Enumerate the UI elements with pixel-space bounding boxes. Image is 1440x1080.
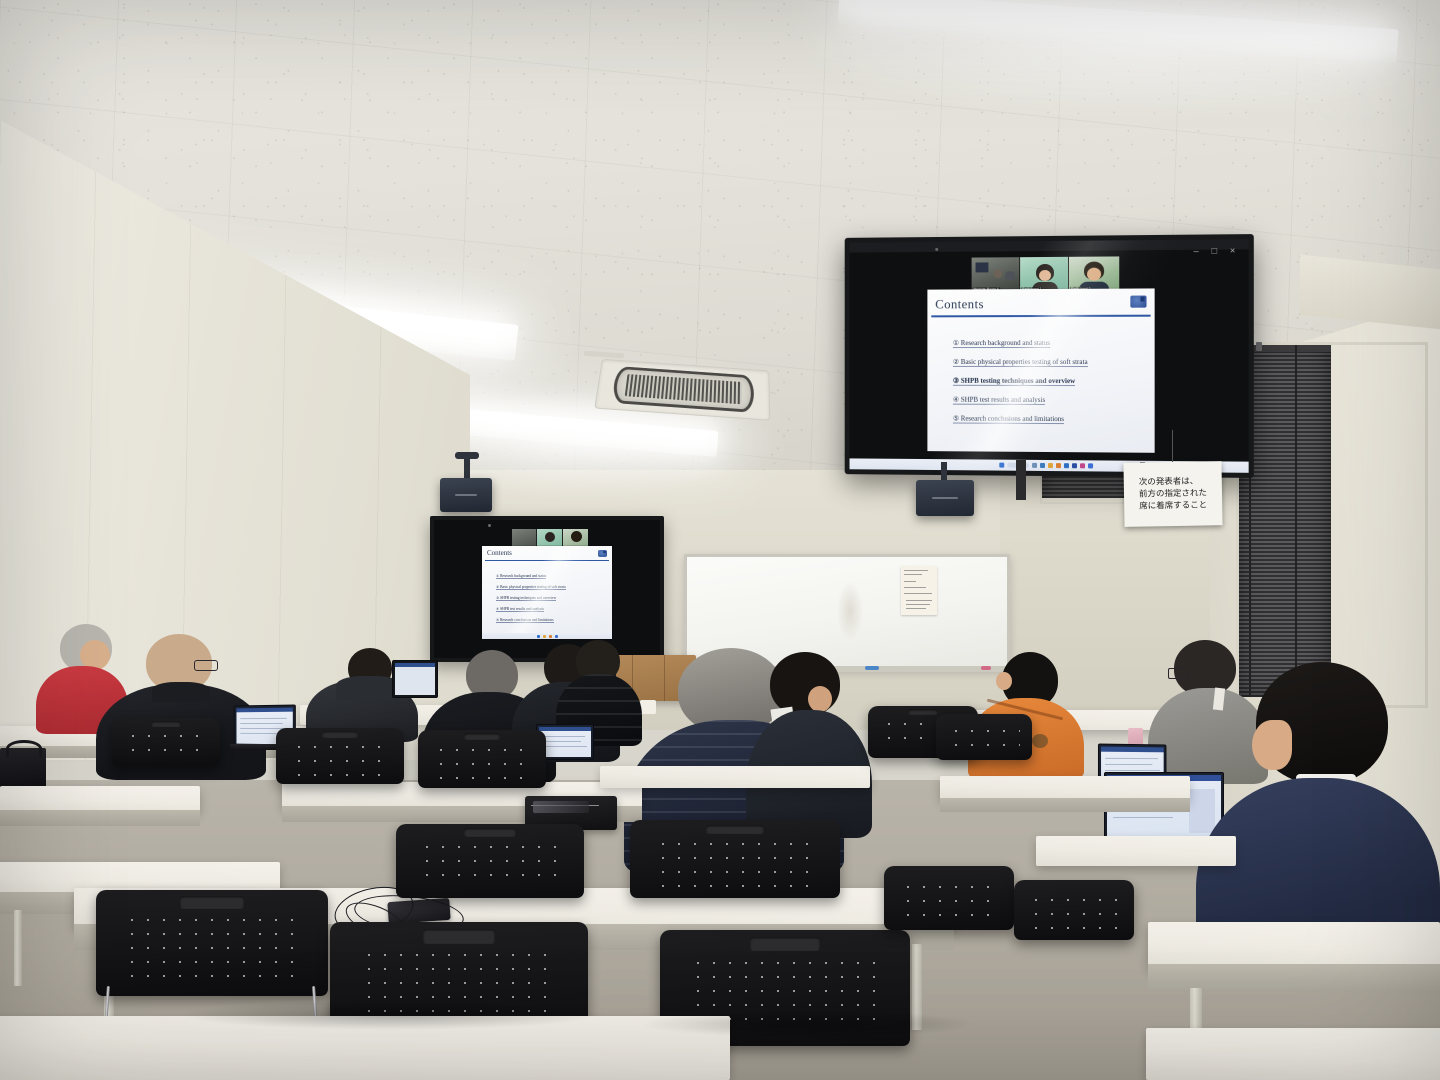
desk-row2-right — [940, 776, 1190, 800]
sign-line: 次の発表者は、 — [1139, 475, 1207, 488]
monitor-bezel — [850, 239, 1249, 252]
sign-wire — [1172, 430, 1173, 464]
start-icon[interactable] — [537, 635, 540, 638]
chair-row2-d[interactable] — [936, 714, 1032, 760]
slide-title: Contents — [935, 296, 984, 312]
chair-handle — [750, 937, 820, 951]
speaker-arm — [941, 462, 947, 482]
chair-row2-a[interactable] — [276, 728, 404, 784]
desk-foreground-bottom-right — [1146, 1028, 1440, 1080]
laptop-text-line — [1105, 764, 1152, 765]
chair-perforations — [900, 880, 999, 921]
chair-front-e[interactable] — [630, 820, 840, 898]
desk-row2-left — [0, 786, 200, 812]
chair-perforations — [655, 837, 815, 887]
slide-bullet: ⑤ Research conclusions and limitations — [496, 618, 554, 623]
laptop-app-header — [539, 727, 591, 731]
laptop-text-line — [1105, 758, 1158, 759]
video-conference-strip-2[interactable] — [512, 529, 588, 546]
video-tile[interactable] — [537, 529, 561, 546]
chair-handle — [423, 929, 495, 943]
chair-handle — [464, 828, 517, 837]
monitor-indicator — [488, 524, 491, 527]
laptop-text-line — [1113, 817, 1173, 818]
window-controls[interactable]: – □ × — [1194, 245, 1241, 256]
chair-row2-b[interactable] — [418, 730, 546, 788]
chair-front-g[interactable] — [1014, 880, 1134, 940]
store-icon[interactable] — [1064, 463, 1069, 468]
video-tile[interactable] — [512, 529, 536, 546]
tote-bag-handle — [6, 740, 42, 757]
edge-icon[interactable] — [1056, 463, 1061, 468]
sign-line: 前方の指定された — [1139, 487, 1207, 500]
speaker-badge — [455, 494, 478, 497]
slide-title: Contents — [487, 549, 512, 557]
paper-text-line — [906, 608, 926, 609]
explorer-icon[interactable] — [1048, 463, 1053, 468]
slide-bullet: ④ SHPB test results and analysis — [953, 396, 1045, 405]
screen-glare — [927, 288, 1154, 452]
main-wall-monitor[interactable]: – □ × Remote Room A Participant 1 Partic… — [845, 234, 1254, 478]
japanese-notice-sign: 次の発表者は、 前方の指定された 席に着席すること — [1123, 461, 1222, 527]
face-profile — [808, 686, 832, 712]
start-icon[interactable] — [999, 463, 1004, 468]
slide-bullet: ② Basic physical properties testing of s… — [953, 358, 1088, 367]
face-profile — [996, 672, 1012, 690]
chair-handle — [464, 733, 500, 740]
desk-row2-center2 — [600, 766, 870, 788]
presentation-slide: Contents ① Research background and statu… — [927, 288, 1154, 452]
attendee-navy-suit-front — [1196, 662, 1440, 962]
slide-bullet: ④ SHPB test results and analysis — [496, 607, 544, 612]
glasses-icon — [1168, 668, 1188, 679]
laptop-text-line — [240, 723, 283, 724]
paper-text-line — [906, 604, 930, 605]
paper-text-line — [904, 581, 916, 582]
desk-front-panel — [940, 798, 1190, 812]
desk-row3-right — [1036, 836, 1236, 866]
blinds-bracket — [1256, 342, 1262, 351]
presentation-slide-2: Contents ① Research background and statu… — [482, 546, 612, 639]
chair-perforations — [291, 740, 388, 776]
slide-divider — [931, 315, 1150, 317]
chair-perforations — [948, 724, 1021, 753]
floor-shadow — [180, 1000, 600, 1030]
floor-shadow — [640, 1010, 980, 1038]
bag-pocket — [533, 801, 589, 813]
blinds-cord[interactable] — [1295, 345, 1297, 697]
explorer-icon[interactable] — [543, 635, 546, 638]
monitor-indicator — [935, 248, 938, 251]
teams-icon[interactable] — [1088, 463, 1093, 468]
speaker-arm — [464, 458, 470, 480]
chair-handle — [908, 709, 939, 715]
collar — [152, 682, 210, 702]
video-tile[interactable]: Participant 2 — [1069, 256, 1119, 290]
paper-text-line — [906, 600, 932, 601]
institution-logo-icon — [1130, 296, 1146, 308]
chair-front-d[interactable] — [396, 824, 584, 898]
wall-speaker-left — [440, 478, 492, 512]
sign-text: 次の発表者は、 前方の指定された 席に着席すること — [1139, 475, 1208, 513]
whiteboard-posted-paper — [901, 566, 937, 615]
slide-bullet: ③ SHPB testing techniques and overview — [953, 377, 1075, 386]
laptop-app-header — [1101, 747, 1164, 753]
office-icon[interactable] — [1072, 463, 1077, 468]
windows-taskbar-2[interactable] — [482, 633, 612, 639]
desk-front-panel — [0, 810, 200, 826]
sign-line: 席に着席すること — [1139, 500, 1207, 513]
wall-speaker-right — [916, 480, 974, 516]
laptop-text-line — [543, 746, 587, 747]
lecture-room-photo: – □ × Remote Room A Participant 1 Partic… — [0, 0, 1440, 1080]
laptop-app-header — [237, 708, 293, 713]
chair-front-f[interactable] — [884, 866, 1014, 930]
laptop-ui — [539, 727, 591, 757]
laptop-text-line — [543, 736, 585, 737]
widgets-icon[interactable] — [1032, 463, 1037, 468]
chair-perforations — [419, 840, 562, 887]
speaker-badge — [932, 497, 958, 500]
slide-bullet: ③ SHPB testing techniques and overview — [496, 596, 556, 601]
chair-perforations — [433, 743, 530, 780]
mail-icon[interactable] — [1080, 463, 1085, 468]
chair-front-a[interactable] — [96, 890, 328, 996]
bag-knot — [1032, 734, 1048, 748]
monitor-mount-arm — [1016, 460, 1026, 500]
laptop-text-line — [240, 733, 277, 734]
chair-handle — [322, 731, 358, 738]
video-tile[interactable]: Participant 1 — [1020, 257, 1068, 291]
slide-bullet: ⑤ Research conclusions and limitations — [953, 415, 1064, 425]
video-conference-strip[interactable]: Remote Room A Participant 1 Participant … — [972, 256, 1120, 291]
chair-perforations — [1028, 893, 1119, 931]
desk-leg — [14, 910, 22, 986]
ear-neck — [1252, 720, 1292, 770]
teams-icon[interactable] — [555, 635, 558, 638]
slide-bullet: ② Basic physical properties testing of s… — [496, 585, 566, 590]
whiteboard-smudge — [837, 581, 863, 641]
video-tile[interactable] — [563, 529, 588, 546]
chair-handle — [151, 721, 181, 727]
institution-logo-icon — [598, 550, 607, 557]
glasses-icon — [194, 660, 218, 671]
attendee-dark-suit-mid — [746, 652, 872, 828]
edge-icon[interactable] — [549, 635, 552, 638]
paper-text-line — [904, 570, 928, 571]
laptop-text-line — [240, 718, 287, 719]
chair-perforations — [124, 913, 300, 981]
paper-text-line — [904, 593, 932, 594]
video-tile[interactable]: Remote Room A — [972, 257, 1020, 291]
chat-icon[interactable] — [1040, 463, 1045, 468]
chair-row2-e[interactable] — [112, 718, 220, 766]
laptop-text-line — [543, 741, 581, 742]
paper-text-line — [904, 574, 922, 575]
paper-text-line — [904, 587, 926, 588]
slide-bullet: ① Research background and status — [496, 574, 546, 579]
laptop-text-line — [1105, 770, 1160, 771]
desk-row3-far-right — [1148, 922, 1440, 968]
slide-divider — [485, 560, 609, 561]
chair-handle — [706, 825, 765, 834]
slide-bullet: ① Research background and status — [953, 339, 1050, 348]
chair-perforations — [125, 729, 207, 760]
chair-handle — [180, 896, 245, 909]
